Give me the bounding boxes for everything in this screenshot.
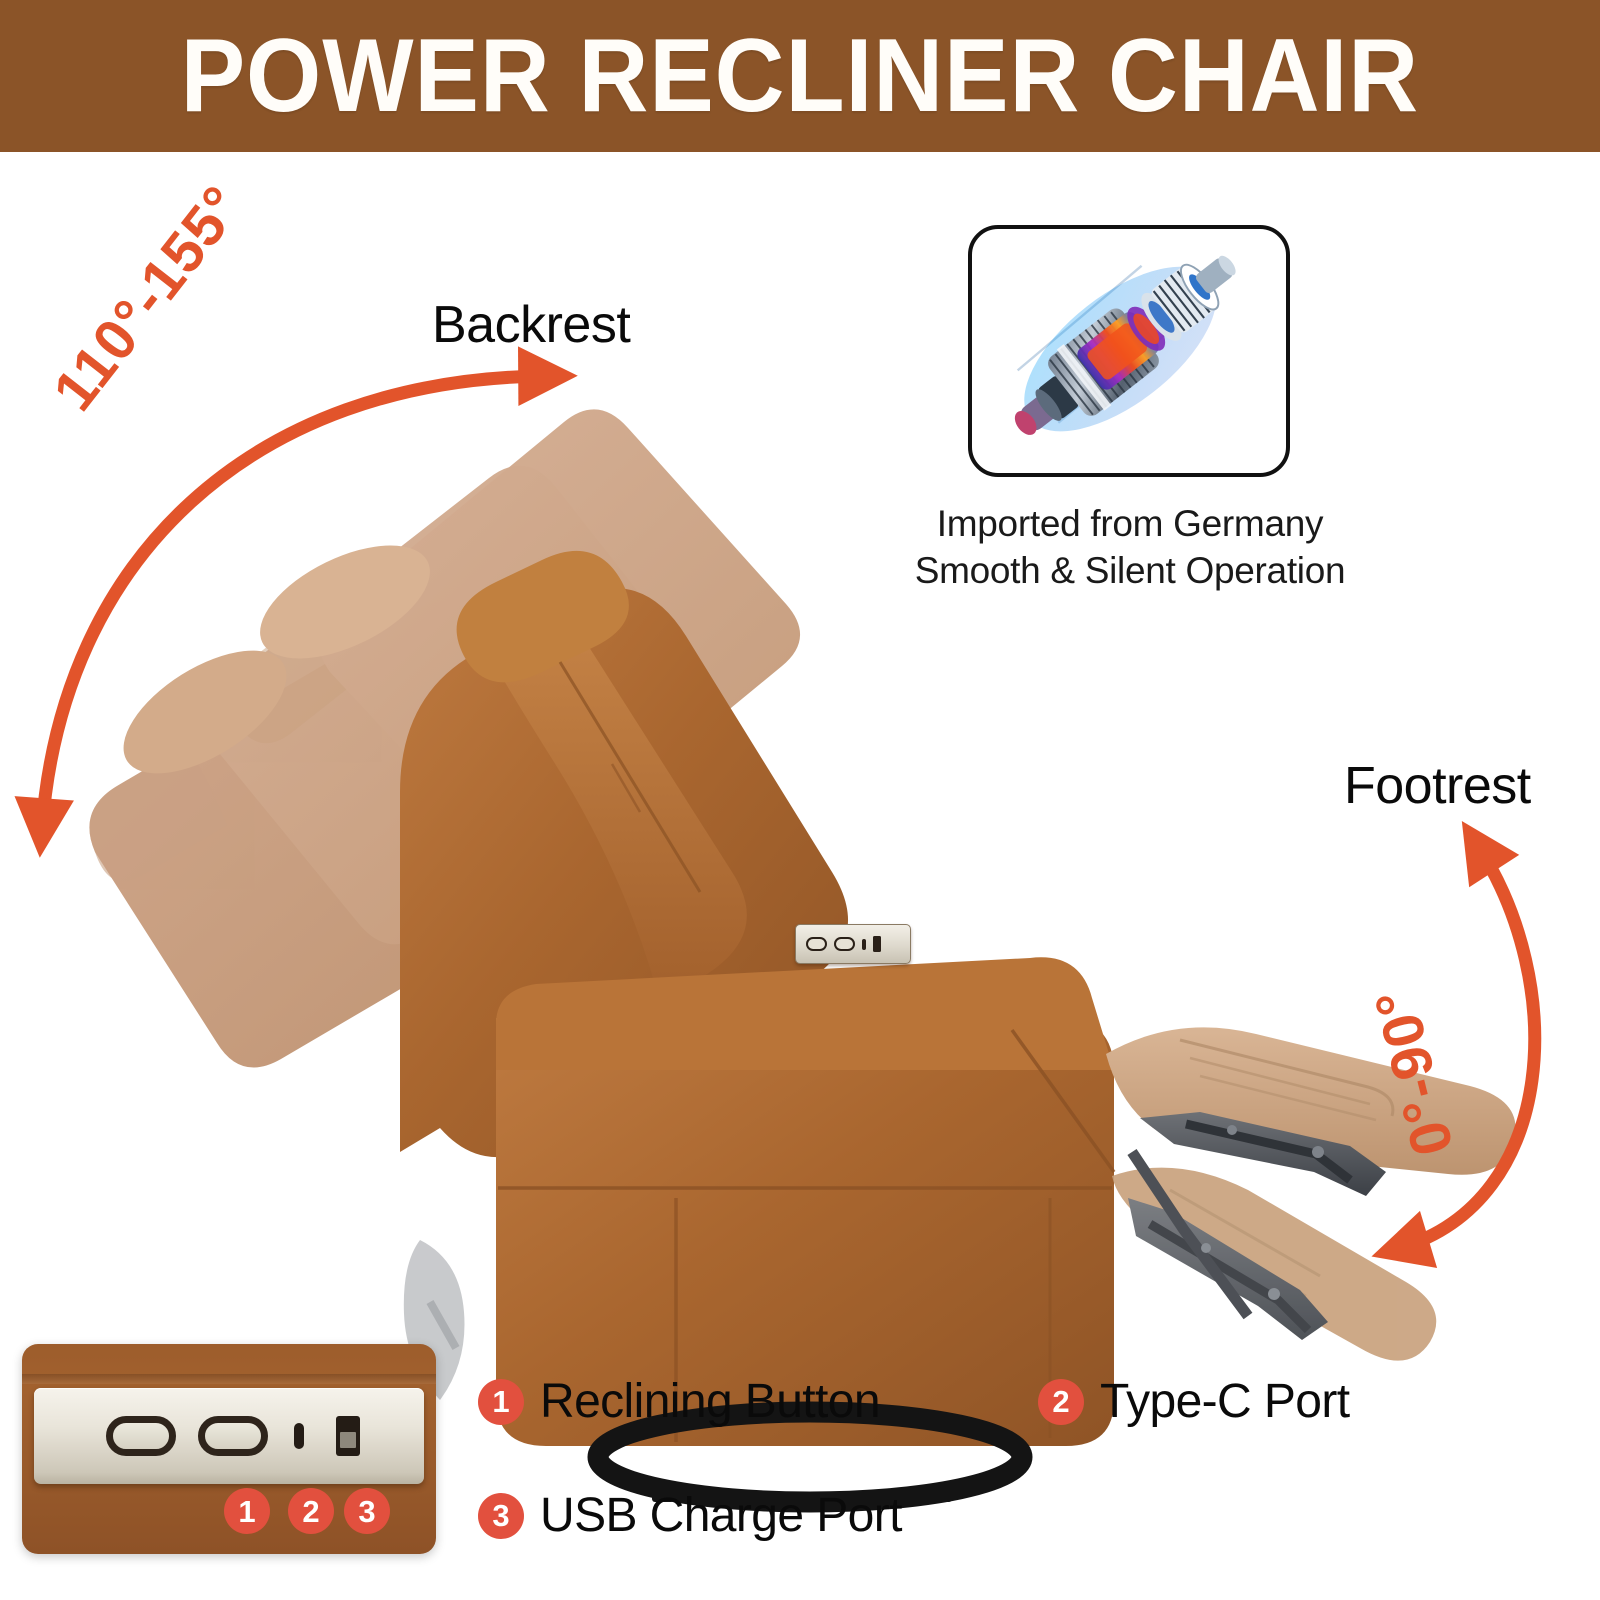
inset-badge-1: 1 <box>224 1488 270 1534</box>
footrest-label: Footrest <box>1344 756 1531 816</box>
legend-item-type-c-port: 2 Type-C Port <box>1038 1374 1349 1429</box>
inset-badge-group: 1 2 3 <box>22 1482 436 1542</box>
control-panel-closeup: 1 2 3 <box>22 1344 436 1554</box>
recline-button-icon[interactable] <box>806 937 827 951</box>
page-title: POWER RECLINER CHAIR <box>181 24 1419 128</box>
control-strip[interactable] <box>34 1388 424 1484</box>
type-c-port-icon <box>862 939 866 950</box>
arm-control-panel[interactable] <box>795 924 911 964</box>
header-banner: POWER RECLINER CHAIR <box>0 0 1600 152</box>
recline-button-icon[interactable] <box>834 937 855 951</box>
motor-caption-line2: Smooth & Silent Operation <box>860 547 1400 594</box>
infographic-stage: Backrest 110°-155° Footrest 0°-90° <box>0 152 1600 1600</box>
legend-label-2: Type-C Port <box>1100 1374 1349 1429</box>
legend-item-usb-charge-port: 3 USB Charge Port <box>478 1488 902 1543</box>
motor-caption: Imported from Germany Smooth & Silent Op… <box>860 500 1400 595</box>
inset-badge-3: 3 <box>344 1488 390 1534</box>
german-motor-card <box>968 225 1290 477</box>
legend-badge-3: 3 <box>478 1493 524 1539</box>
electric-motor-icon <box>972 229 1286 473</box>
backrest-label: Backrest <box>432 295 630 355</box>
motor-caption-line1: Imported from Germany <box>860 500 1400 547</box>
legend-label-1: Reclining Button <box>540 1374 880 1429</box>
legend-badge-1: 1 <box>478 1379 524 1425</box>
inset-badge-2: 2 <box>288 1488 334 1534</box>
usb-port-icon <box>336 1416 360 1456</box>
usb-port-icon <box>873 936 881 952</box>
type-c-port-icon <box>294 1423 304 1449</box>
leather-seam <box>22 1374 436 1384</box>
recline-button-icon[interactable] <box>106 1416 176 1456</box>
legend-badge-2: 2 <box>1038 1379 1084 1425</box>
legend-label-3: USB Charge Port <box>540 1488 902 1543</box>
recline-button-icon[interactable] <box>198 1416 268 1456</box>
legend-item-reclining-button: 1 Reclining Button <box>478 1374 880 1429</box>
